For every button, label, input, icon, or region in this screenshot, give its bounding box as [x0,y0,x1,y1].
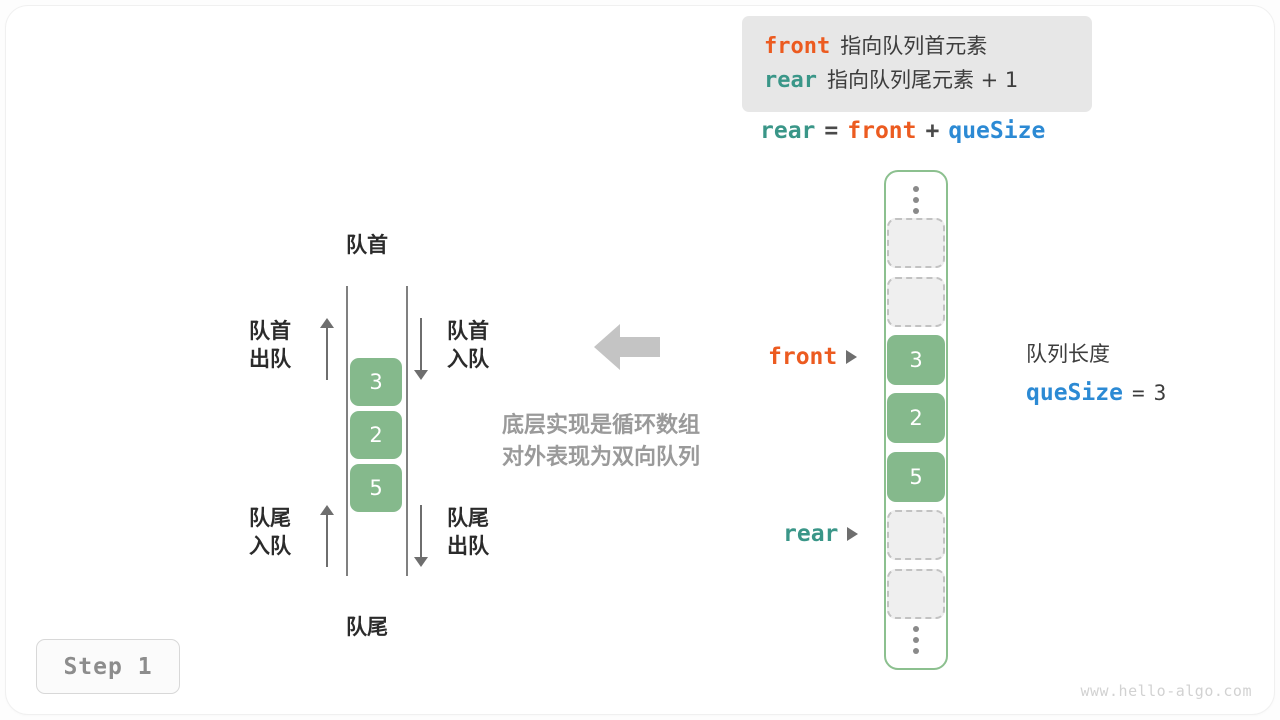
deque-cell-0: 3 [350,358,402,406]
pointer-front-text: front [768,344,837,370]
label-head-dequeue: 队首出队 [249,318,291,373]
quesize-value: 3 [1154,381,1167,405]
label-head-enqueue: 队首入队 [447,318,489,373]
arrow-up-head-dequeue-icon [320,318,334,380]
array-bottom-ellipsis-icon [913,626,919,654]
diagram-canvas: front 指向队列首元素 rear 指向队列尾元素 + 1 rear = fr… [0,0,1280,720]
legend-row-front: front 指向队列首元素 [764,30,1092,64]
center-note-line2: 对外表现为双向队列 [502,442,700,474]
arrow-down-tail-dequeue-icon [414,505,428,567]
deque-rail-right [406,286,408,576]
center-note-line1: 底层实现是循环数组 [502,410,700,442]
array-cell-2: 3 [887,335,945,385]
formula-lhs: rear [760,118,815,144]
queue-length-block: 队列长度 queSize = 3 [1026,338,1166,406]
deque-rail-left [346,286,348,576]
pointer-front-arrow-icon [846,350,857,364]
array-top-ellipsis-icon [913,186,919,214]
quesize-var: queSize [1026,380,1123,406]
formula-plus: + [926,118,940,144]
label-tail-dequeue: 队尾出队 [447,505,489,560]
pointer-rear-text: rear [783,521,838,547]
arrow-down-head-enqueue-icon [414,318,428,380]
array-cell-3: 2 [887,393,945,443]
legend-desc-rear: 指向队列尾元素 + 1 [827,64,1018,94]
step-badge: Step 1 [36,639,180,694]
big-left-arrow-icon [594,322,660,372]
pointer-label-rear: rear [783,521,858,547]
pointer-label-front: front [768,344,857,370]
formula-eq: = [824,118,838,144]
array-cell-0 [887,218,945,268]
deque-cell-1: 2 [350,411,402,459]
label-tail-enqueue: 队尾入队 [249,505,291,560]
formula-rhs1: front [847,118,916,144]
deque-head-caption: 队首 [346,229,388,259]
quesize-eq: = [1132,381,1145,405]
legend-term-front: front [764,34,830,59]
circular-array-container: 3 2 5 [884,170,948,670]
arrow-up-tail-enqueue-icon [320,505,334,567]
legend-box: front 指向队列首元素 rear 指向队列尾元素 + 1 [742,16,1092,112]
watermark: www.hello-algo.com [1080,682,1252,700]
formula-rhs2: queSize [948,118,1045,144]
legend-desc-front: 指向队列首元素 [840,30,987,60]
deque-tail-caption: 队尾 [346,611,388,641]
legend-row-rear: rear 指向队列尾元素 + 1 [764,64,1092,98]
array-cell-1 [887,277,945,327]
center-note: 底层实现是循环数组 对外表现为双向队列 [502,410,700,474]
formula-rear-equals: rear = front + queSize [760,118,1045,144]
array-cell-4: 5 [887,452,945,502]
legend-term-rear: rear [764,68,817,93]
queue-length-caption: 队列长度 [1026,338,1166,368]
deque-cell-2: 5 [350,464,402,512]
array-cell-6 [887,569,945,619]
pointer-rear-arrow-icon [847,527,858,541]
array-cell-5 [887,510,945,560]
